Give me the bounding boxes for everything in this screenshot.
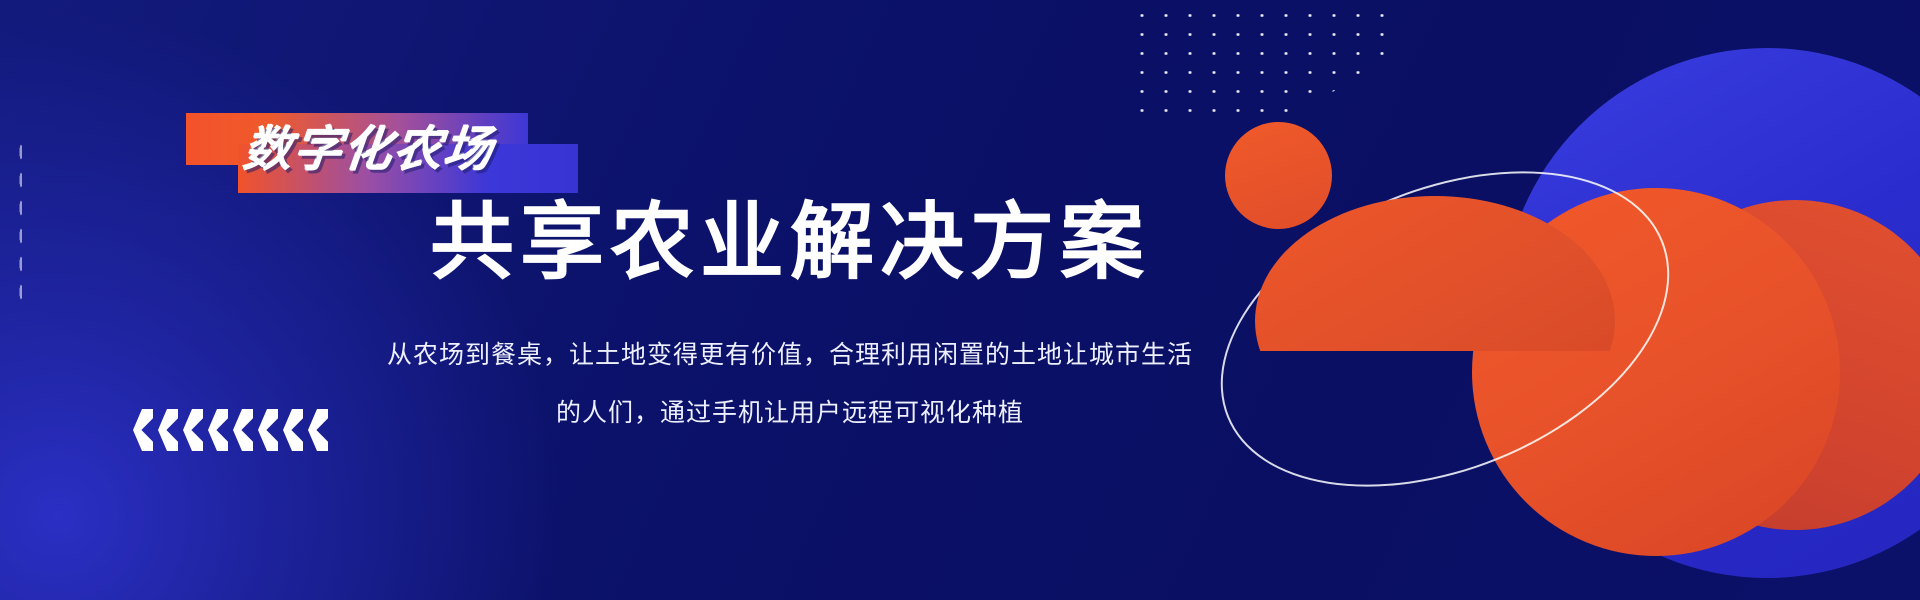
chevron-icon	[183, 409, 203, 451]
subtitle-line-2: 的人们，通过手机让用户远程可视化种植	[360, 384, 1220, 442]
dot-column-decoration	[18, 138, 22, 310]
chevron-icon	[158, 409, 178, 451]
banner-subtitle: 从农场到餐桌，让土地变得更有价值，合理利用闲置的土地让城市生活 的人们，通过手机…	[360, 326, 1220, 442]
page-title: 共享农业解决方案	[430, 196, 1150, 288]
badge-label: 数字化农场	[241, 127, 496, 175]
chevron-icon	[133, 409, 153, 451]
orange-small-circle-decoration	[1225, 122, 1332, 229]
blue-circle-decoration	[1502, 48, 1920, 578]
chevron-arrows-decoration	[133, 409, 328, 451]
chevron-icon	[308, 409, 328, 451]
chevron-icon	[233, 409, 253, 451]
orange-mid-circle-decoration	[1630, 200, 1920, 530]
orbit-ring-overlap-mask	[1255, 196, 1615, 446]
hero-banner: 数字化农场 共享农业解决方案 从农场到餐桌，让土地变得更有价值，合理利用闲置的土…	[0, 0, 1920, 600]
chevron-icon	[208, 409, 228, 451]
badge-digital-farm: 数字化农场	[186, 113, 586, 193]
chevron-icon	[283, 409, 303, 451]
orange-big-circle-decoration	[1472, 188, 1840, 556]
orbit-ring-decoration	[1174, 110, 1715, 548]
dot-grid-decoration	[1130, 6, 1402, 116]
subtitle-line-1: 从农场到餐桌，让土地变得更有价值，合理利用闲置的土地让城市生活	[360, 326, 1220, 384]
chevron-icon	[258, 409, 278, 451]
